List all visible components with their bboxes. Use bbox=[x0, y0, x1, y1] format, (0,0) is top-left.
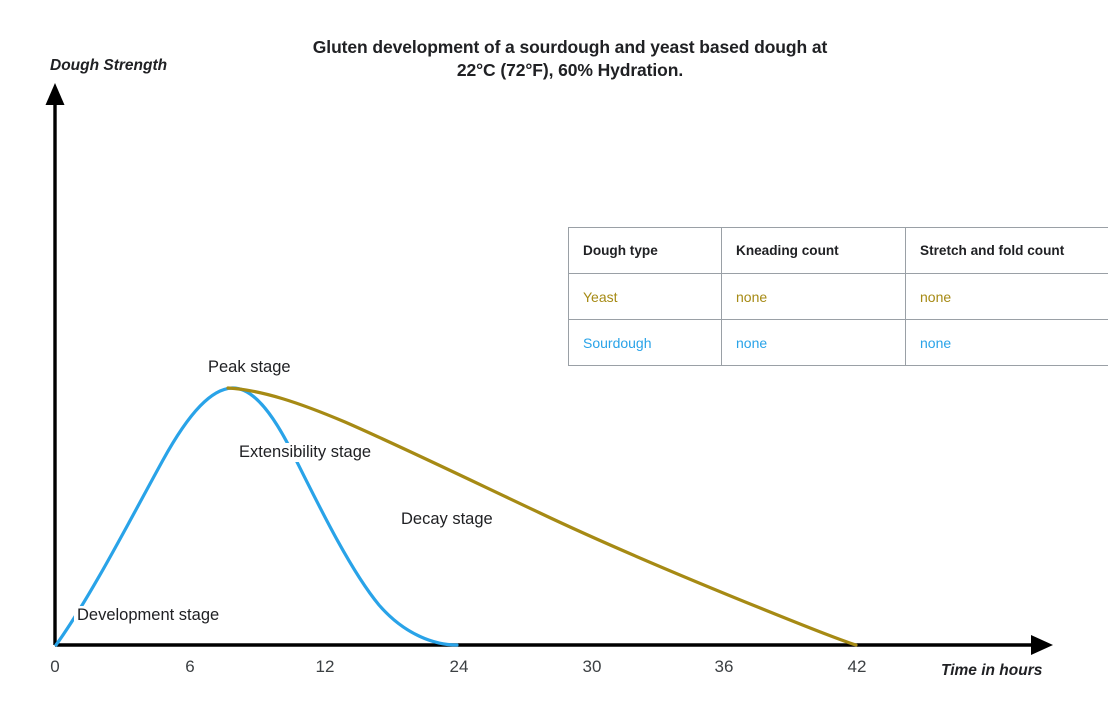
gluten-development-chart: Gluten development of a sourdough and ye… bbox=[0, 0, 1108, 706]
table-cell-stretch-and-fold-count-yeast: none bbox=[906, 274, 1108, 320]
series-line-yeast bbox=[228, 388, 856, 645]
x-axis bbox=[55, 635, 1053, 655]
x-tick-label-30: 30 bbox=[572, 657, 612, 677]
table-cell-kneading-count-sourdough: none bbox=[722, 320, 906, 366]
annotation-extensibility-stage: Extensibility stage bbox=[236, 443, 374, 462]
x-tick-label-0: 0 bbox=[35, 657, 75, 677]
table-cell-stretch-and-fold-count-sourdough: none bbox=[906, 320, 1108, 366]
x-tick-label-6: 6 bbox=[170, 657, 210, 677]
table-cell-dough-type-yeast: Yeast bbox=[569, 274, 722, 320]
table-header-stretch-and-fold-count: Stretch and fold count bbox=[906, 228, 1108, 274]
x-tick-label-42: 42 bbox=[837, 657, 877, 677]
y-axis-arrowhead bbox=[46, 83, 65, 105]
y-axis bbox=[46, 83, 65, 645]
table-row: Yeast none none bbox=[569, 274, 1108, 320]
x-axis-arrowhead bbox=[1031, 635, 1053, 655]
table-row: Sourdough none none bbox=[569, 320, 1108, 366]
table-cell-dough-type-sourdough: Sourdough bbox=[569, 320, 722, 366]
x-tick-label-12: 12 bbox=[305, 657, 345, 677]
y-axis-title: Dough Strength bbox=[50, 57, 167, 75]
annotation-development-stage: Development stage bbox=[74, 606, 222, 625]
x-tick-label-24: 24 bbox=[439, 657, 479, 677]
annotation-decay-stage: Decay stage bbox=[398, 510, 496, 529]
x-axis-title: Time in hours bbox=[941, 662, 1042, 680]
table-header-dough-type: Dough type bbox=[569, 228, 722, 274]
table-header-kneading-count: Kneading count bbox=[722, 228, 906, 274]
dough-comparison-table: Dough type Kneading count Stretch and fo… bbox=[568, 227, 1108, 366]
x-tick-label-36: 36 bbox=[704, 657, 744, 677]
annotation-peak-stage: Peak stage bbox=[205, 358, 294, 377]
table-header-row: Dough type Kneading count Stretch and fo… bbox=[569, 228, 1108, 274]
table-cell-kneading-count-yeast: none bbox=[722, 274, 906, 320]
